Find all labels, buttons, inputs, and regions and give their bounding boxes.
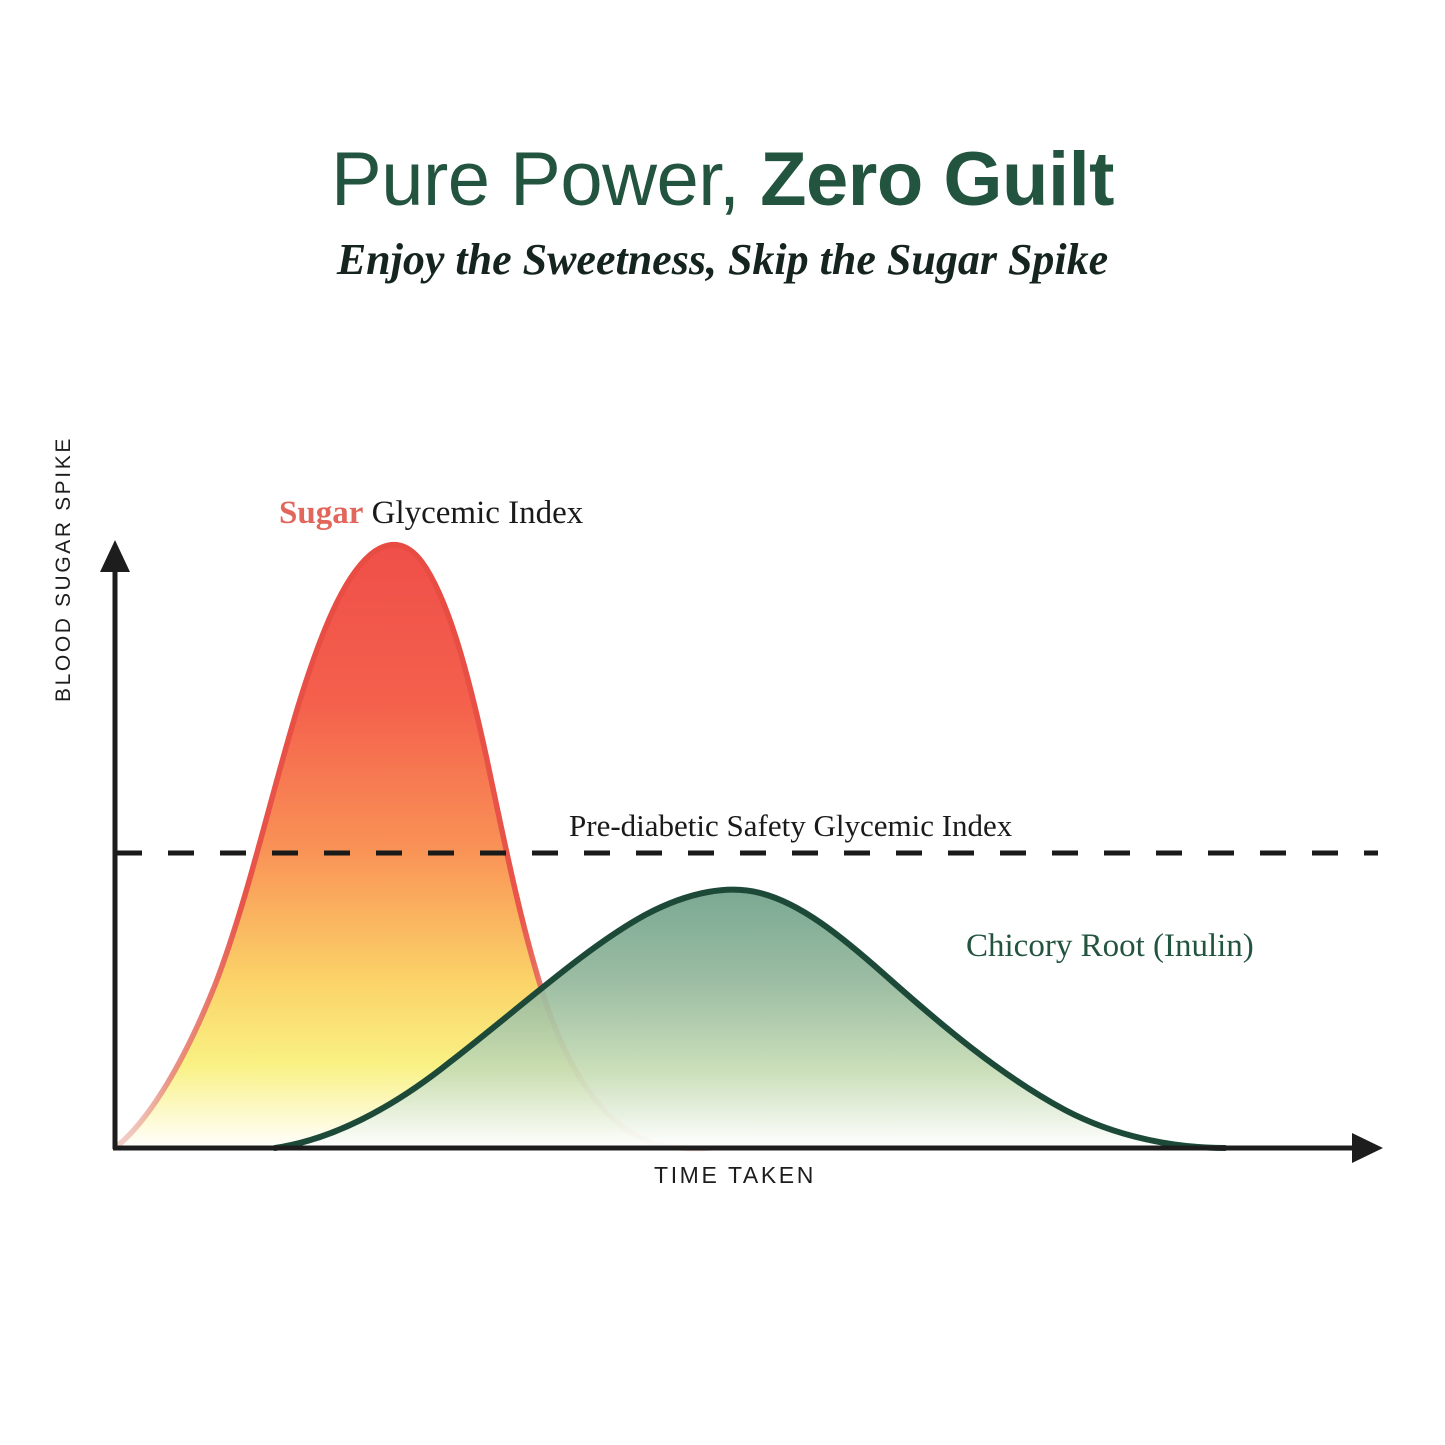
x-axis-label: TIME TAKEN: [560, 1162, 910, 1189]
legend-sugar-label: Sugar Glycemic Index: [279, 495, 583, 532]
poster-canvas: Pure Power, Zero Guilt Enjoy the Sweetne…: [0, 0, 1445, 1445]
legend-sugar-rest: Glycemic Index: [363, 495, 583, 531]
x-axis-arrow-icon: [1352, 1133, 1383, 1163]
chart-container: BLOOD SUGAR SPIKE TIME TAKEN Sugar Glyce…: [0, 0, 1445, 1445]
y-axis-arrow-icon: [100, 540, 130, 572]
glycemic-index-chart: [0, 0, 1445, 1445]
legend-chicory-label: Chicory Root (Inulin): [966, 928, 1254, 965]
threshold-label: Pre-diabetic Safety Glycemic Index: [569, 808, 1012, 844]
y-axis-label: BLOOD SUGAR SPIKE: [52, 362, 76, 702]
legend-sugar-accent: Sugar: [279, 495, 363, 531]
